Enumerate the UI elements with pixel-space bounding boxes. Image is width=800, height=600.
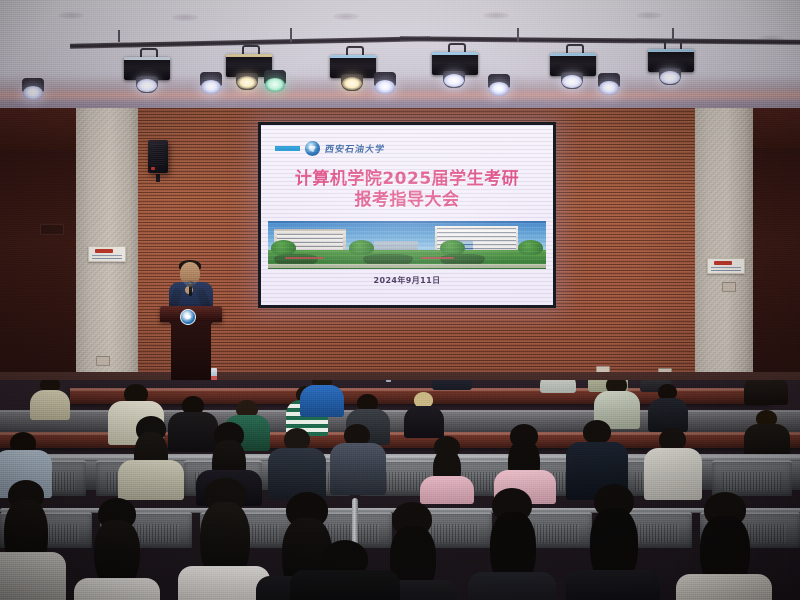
campus-hedge — [440, 254, 484, 264]
attendee-body — [30, 390, 70, 420]
attendee — [566, 484, 660, 600]
attendee-body — [676, 574, 772, 600]
slide-title-line-1: 计算机学院2025届学生考研 — [295, 169, 519, 189]
attendee — [290, 540, 400, 600]
notice-text-lines — [711, 267, 741, 268]
attendee — [540, 380, 576, 390]
fixture-glow — [660, 71, 680, 84]
notice-sign-left — [88, 246, 126, 262]
attendee-body — [404, 406, 444, 438]
attendee — [468, 488, 556, 600]
attendee-body — [744, 380, 788, 405]
attendee — [676, 492, 772, 600]
attendee-body — [74, 578, 160, 600]
campus-tree — [271, 240, 296, 256]
ceiling-downlight — [636, 12, 662, 19]
led-screen: 西安石油大学 计算机学院2025届学生考研 报考指导大会 — [258, 122, 556, 308]
fixture-glow — [444, 74, 464, 87]
par-light — [198, 72, 224, 94]
attendee-body — [0, 552, 66, 600]
attendee-head — [583, 420, 611, 444]
campus-path — [268, 264, 546, 268]
attendee-body — [330, 443, 386, 495]
attendee — [420, 436, 474, 500]
campus-panorama-photo — [268, 221, 546, 269]
attendee — [268, 428, 326, 498]
attendee — [744, 380, 788, 404]
university-seal-icon — [305, 141, 320, 156]
attendee — [30, 380, 70, 418]
attendee-body — [566, 570, 660, 600]
water-bottle — [386, 380, 391, 382]
attendee-body — [300, 385, 344, 417]
university-seal-icon — [180, 309, 196, 325]
attendee — [648, 384, 688, 430]
logo-accent-bar — [275, 146, 300, 151]
attendee-body — [540, 380, 576, 393]
speaker-box-left — [148, 140, 168, 173]
microphone-head — [187, 281, 194, 287]
ceiling-warm-glow — [0, 88, 800, 102]
par-light — [372, 72, 398, 94]
attendee-body — [290, 570, 400, 600]
wall-wood-right2 — [650, 108, 695, 408]
par-light — [596, 73, 622, 95]
par-light — [486, 74, 512, 96]
wall-dark-panel-right — [753, 108, 800, 408]
wall-outlet-left — [96, 356, 110, 366]
campus-flowerbed — [285, 257, 324, 259]
attendee-body — [468, 572, 556, 600]
fixture-glow — [237, 76, 257, 89]
par-light — [20, 78, 46, 100]
truss-hanger — [118, 30, 120, 42]
wall-dark-panel-right-upper — [753, 108, 800, 148]
attendee — [74, 498, 160, 600]
wall-dark-panel-left-upper — [0, 108, 76, 150]
par-light — [262, 70, 288, 92]
speaker-bracket-left — [156, 174, 160, 182]
par-lens — [265, 78, 285, 92]
slide-title-line-2: 报考指导大会 — [261, 190, 553, 211]
attendee-body — [420, 476, 474, 504]
attendee-body — [648, 398, 688, 432]
wall-outlet-right — [722, 282, 736, 292]
attendee — [330, 424, 386, 494]
seat-back — [712, 460, 792, 496]
ceiling-downlight — [58, 12, 84, 19]
par-lens — [201, 80, 221, 94]
campus-flowerbed — [421, 257, 454, 259]
attendee-body — [432, 380, 472, 390]
truss-hanger — [517, 28, 519, 42]
par-lens — [375, 80, 395, 94]
wall-dark-panel-left — [0, 108, 76, 408]
audience-area — [0, 380, 800, 600]
campus-tree — [349, 240, 374, 256]
truss-hanger — [290, 28, 292, 42]
fixture-glow — [562, 75, 582, 88]
par-lens — [23, 86, 43, 100]
ceiling-downlight — [483, 12, 509, 19]
attendee — [432, 380, 472, 388]
notice-sign-right — [707, 258, 745, 274]
university-logo: 西安石油大学 — [275, 141, 385, 156]
podium-body — [171, 321, 211, 387]
notice-red-band — [95, 249, 113, 253]
attendee-body — [118, 460, 184, 500]
wall-vent-left — [40, 224, 64, 235]
university-name: 西安石油大学 — [324, 142, 386, 155]
notice-text-lines — [92, 255, 122, 256]
notice-red-band — [714, 261, 732, 265]
attendee — [404, 392, 444, 436]
campus-hedge — [363, 254, 413, 264]
presentation-slide: 西安石油大学 计算机学院2025届学生考研 报考指导大会 — [261, 125, 553, 305]
ceiling-downlight — [333, 13, 359, 20]
slide-date: 2024年9月11日 — [261, 275, 553, 286]
par-lens — [489, 82, 509, 96]
attendee — [744, 410, 790, 458]
par-lens — [599, 81, 619, 95]
attendee — [0, 480, 66, 600]
campus-hedge — [274, 254, 318, 264]
ceiling-downlight — [172, 14, 198, 21]
fixture-glow — [137, 79, 157, 92]
slide-title: 计算机学院2025届学生考研 报考指导大会 — [261, 169, 553, 211]
wall-wood-right — [550, 108, 650, 408]
attendee — [300, 380, 344, 416]
fixture-glow — [342, 77, 362, 90]
auditorium-photo: 西安石油大学 计算机学院2025届学生考研 报考指导大会 — [0, 0, 800, 600]
campus-tree — [440, 240, 465, 256]
campus-tree — [518, 240, 543, 256]
speaker-indicator-left — [151, 167, 155, 170]
